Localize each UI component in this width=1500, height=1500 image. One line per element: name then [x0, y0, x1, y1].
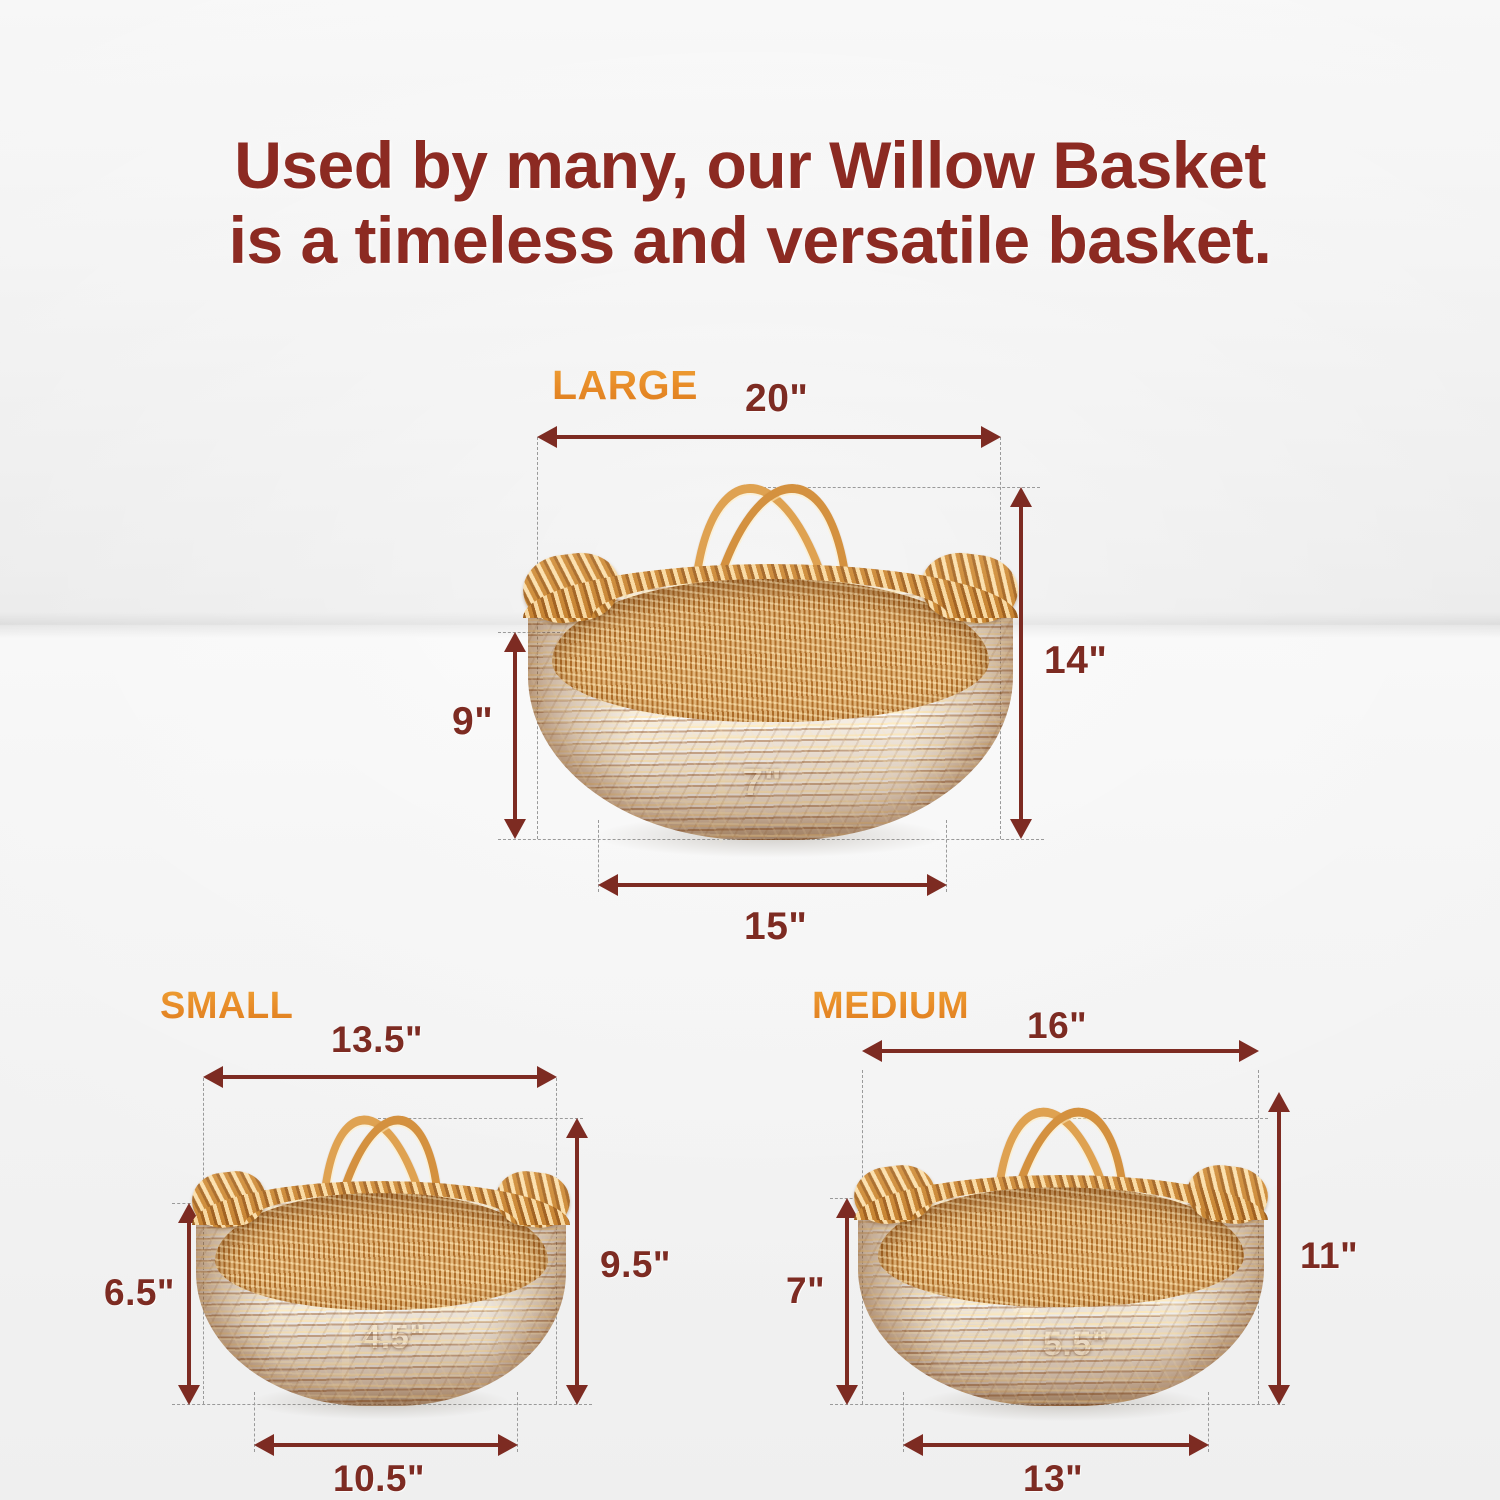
dim-label-large-body-height: 9"	[452, 700, 493, 744]
large-basket-image	[528, 482, 1013, 840]
size-label-medium: MEDIUM	[812, 985, 969, 1028]
dim-arrow-large-body-height	[502, 632, 528, 839]
dim-label-medium-height: 11"	[1300, 1235, 1358, 1277]
dim-label-large-width: 20"	[745, 377, 808, 421]
small-basket-image	[196, 1114, 566, 1406]
dim-arrow-large-base-width	[598, 872, 947, 898]
medium-basket-image	[858, 1106, 1264, 1406]
dim-label-small-width: 13.5"	[331, 1019, 423, 1061]
dim-label-medium-body-height: 7"	[786, 1270, 825, 1312]
headline-line-1: Used by many, our Willow Basket	[0, 128, 1500, 203]
dim-arrow-medium-height	[1266, 1092, 1292, 1405]
size-label-large: LARGE	[552, 362, 698, 409]
dim-label-medium-width: 16"	[1027, 1005, 1087, 1047]
dim-arrow-medium-base-width	[903, 1432, 1209, 1458]
dim-arrow-large-width	[537, 424, 1001, 450]
headline-line-2: is a timeless and versatile basket.	[0, 203, 1500, 278]
dim-arrow-small-base-width	[254, 1432, 518, 1458]
dim-arrow-small-width	[203, 1064, 557, 1090]
dim-label-medium-base-width: 13"	[1023, 1458, 1083, 1500]
dim-label-large-base-width: 15"	[744, 905, 807, 949]
size-label-small: SMALL	[160, 985, 293, 1028]
dim-label-small-height: 9.5"	[600, 1244, 671, 1286]
dim-arrow-small-height	[564, 1118, 590, 1405]
dim-arrow-medium-body-height	[834, 1198, 860, 1405]
headline: Used by many, our Willow Basket is a tim…	[0, 128, 1500, 277]
dim-label-large-height: 14"	[1044, 639, 1107, 683]
dim-label-small-body-height: 6.5"	[104, 1272, 175, 1314]
dim-label-small-base-width: 10.5"	[333, 1458, 425, 1500]
